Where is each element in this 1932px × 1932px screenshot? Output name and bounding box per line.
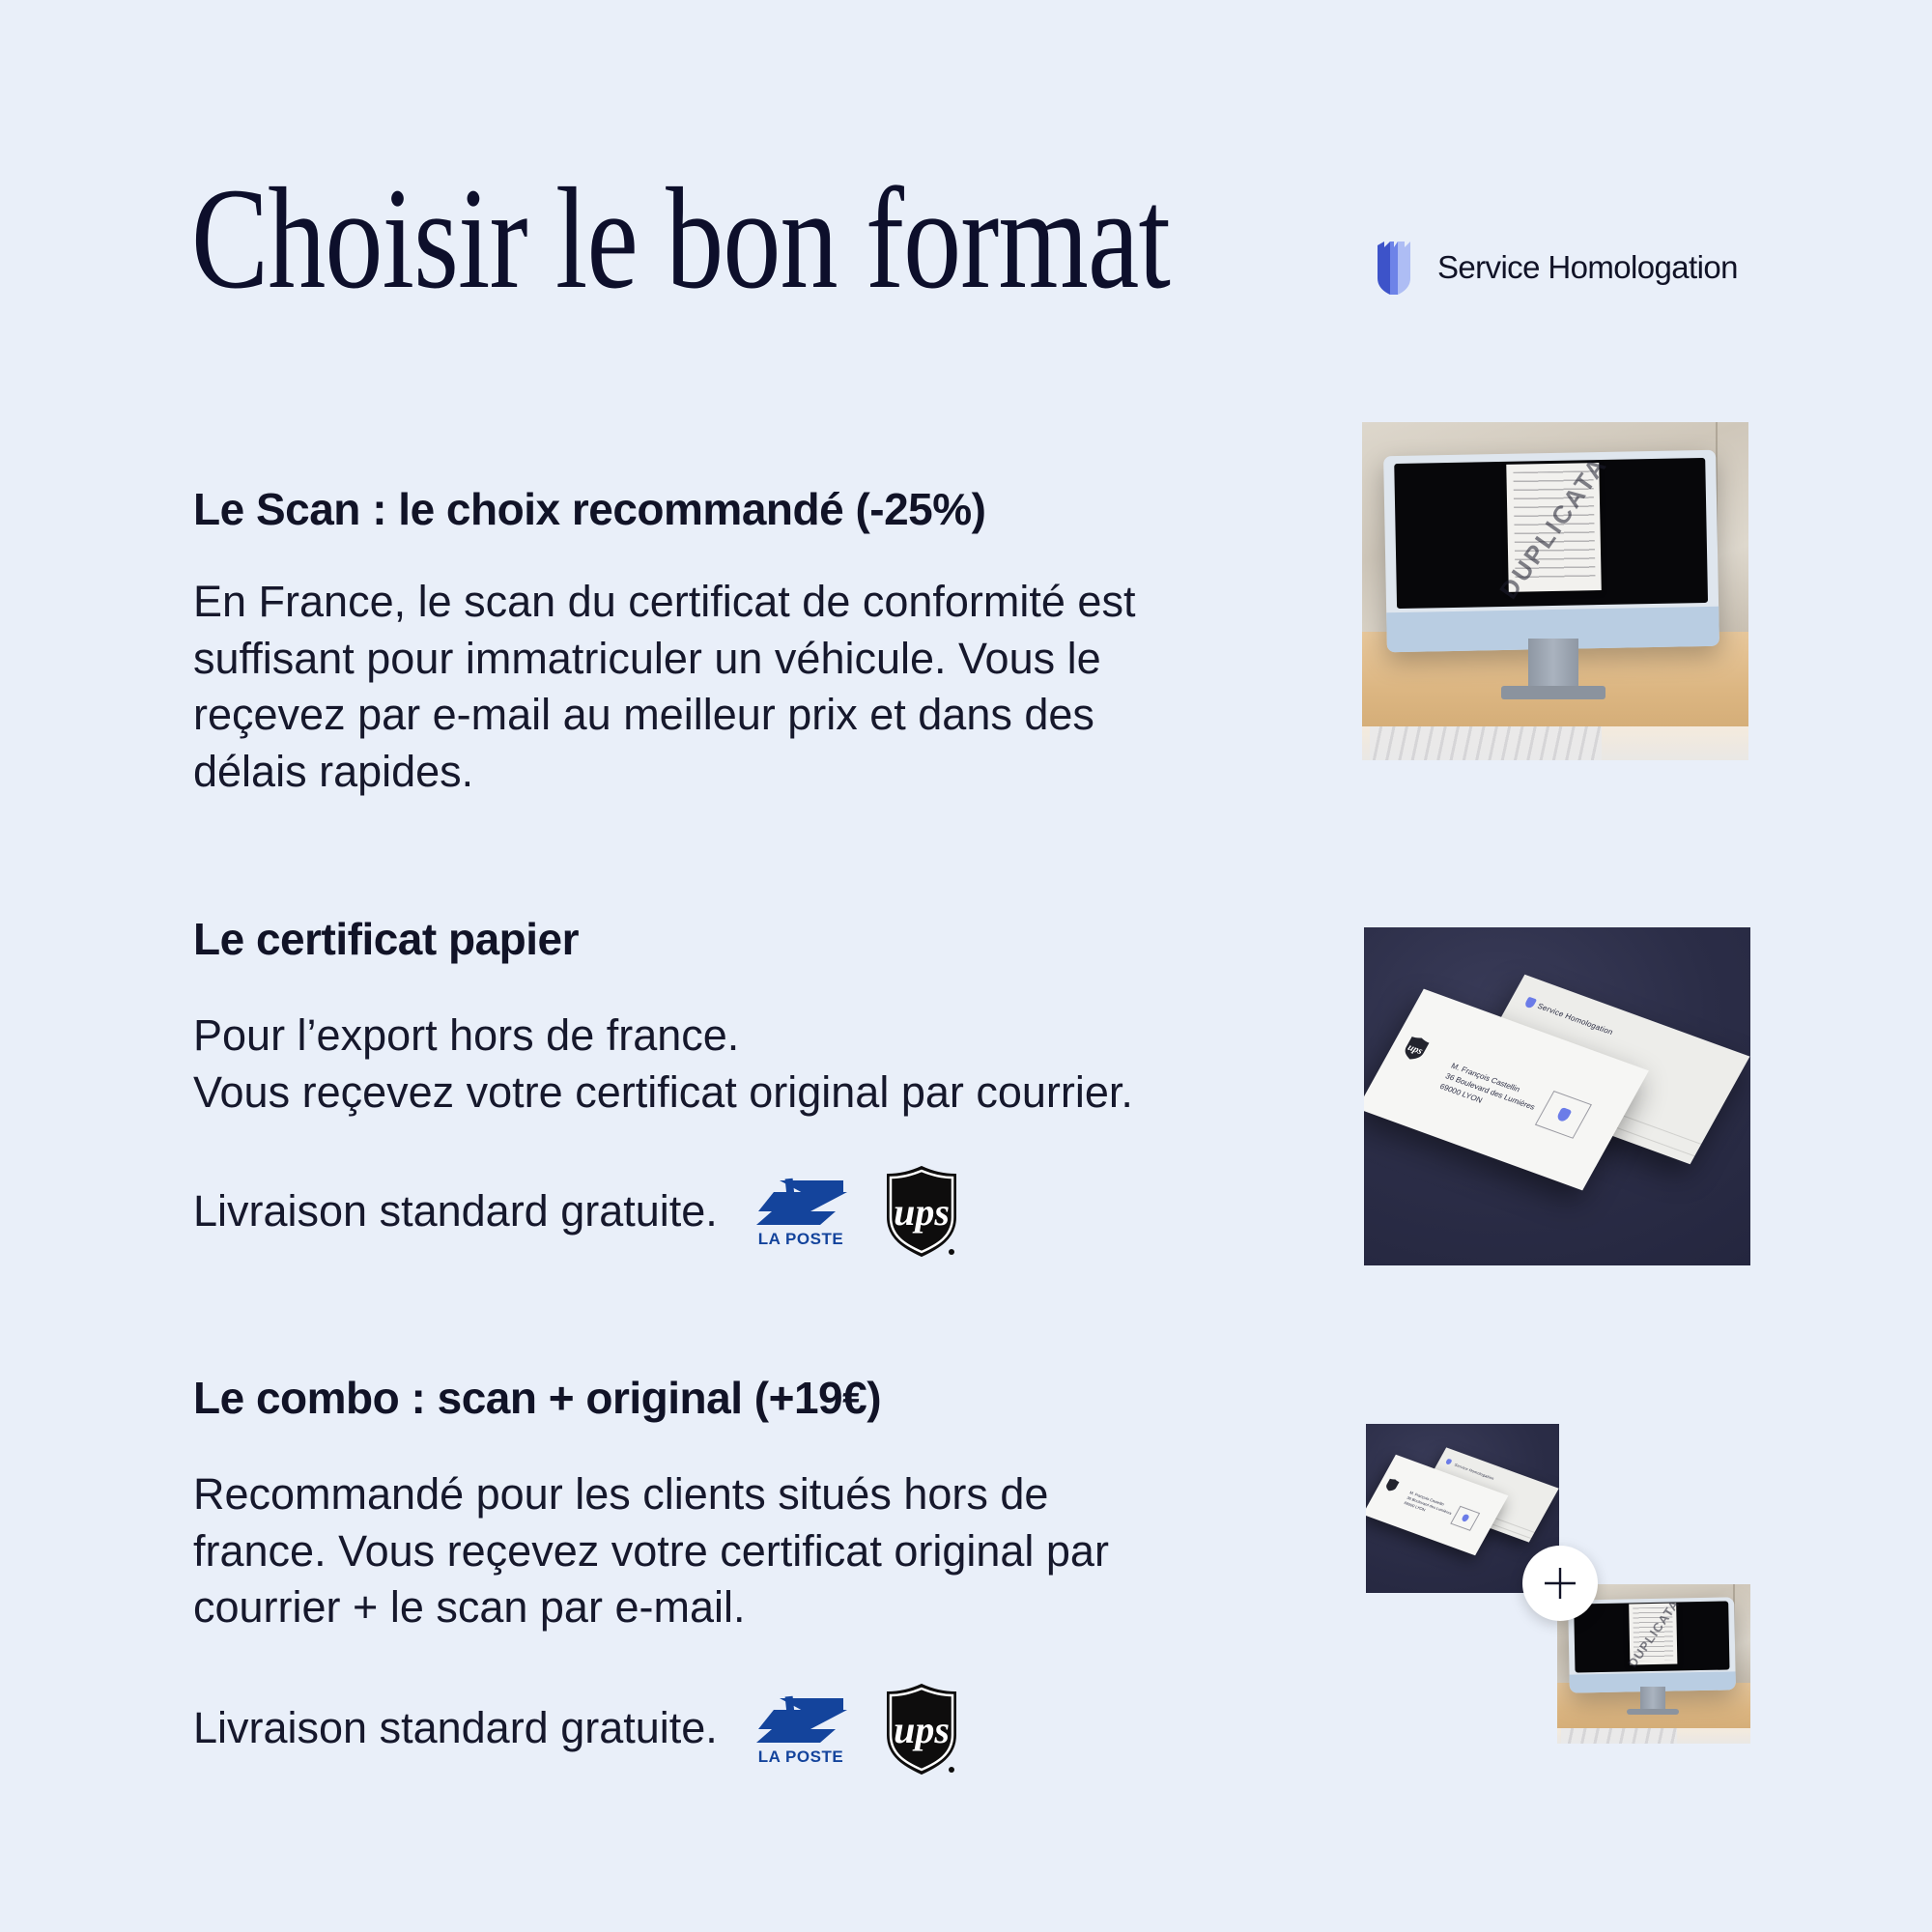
envelope-address: M. François Castellin 36 Boulevard des L… xyxy=(1437,1061,1536,1121)
section-heading: Le combo : scan + original (+19€) xyxy=(193,1372,1179,1424)
ups-logo: ups xyxy=(884,1165,959,1258)
la-poste-logo: LA POSTE xyxy=(751,1175,851,1248)
envelopes-photo: Service Homologation ups M. François Cas… xyxy=(1364,927,1750,1265)
shield-logo-icon xyxy=(1445,1459,1453,1465)
ups-logo: ups xyxy=(884,1683,959,1776)
carrier-logos: LA POSTE ups xyxy=(751,1683,959,1776)
plus-icon xyxy=(1522,1546,1598,1621)
section-papier: Le certificat papier Pour l’export hors … xyxy=(193,913,1198,1258)
section-body: Recommandé pour les clients situés hors … xyxy=(193,1466,1179,1636)
svg-text:ups: ups xyxy=(894,1190,950,1234)
shield-logo-icon xyxy=(1376,240,1420,296)
carrier-logos: LA POSTE ups xyxy=(751,1165,959,1258)
shield-logo-icon xyxy=(1523,997,1537,1009)
imac-duplicata-photo: DUPLICATA xyxy=(1362,422,1748,760)
shipping-label: Livraison standard gratuite. xyxy=(193,1183,718,1240)
la-poste-logo: LA POSTE xyxy=(751,1692,851,1766)
shipping-row: Livraison standard gratuite. LA POSTE xyxy=(193,1683,1179,1776)
section-body: En France, le scan du certificat de conf… xyxy=(193,574,1198,800)
envelope-address: M. François Castellin 36 Boulevard des L… xyxy=(1403,1491,1452,1520)
poster-root: Choisir le bon format Service Homologati… xyxy=(0,0,1932,1932)
brand-lockup: Service Homologation xyxy=(1376,240,1738,296)
section-heading: Le certificat papier xyxy=(193,913,1198,965)
shipping-label: Livraison standard gratuite. xyxy=(193,1700,718,1757)
combo-photo: Service Homologation M. François Castell… xyxy=(1356,1410,1772,1797)
section-scan: Le Scan : le choix recommandé (-25%) En … xyxy=(193,483,1198,800)
section-body: Pour l’export hors de france. Vous reçev… xyxy=(193,1008,1198,1121)
svg-text:LA POSTE: LA POSTE xyxy=(758,1230,843,1248)
section-heading: Le Scan : le choix recommandé (-25%) xyxy=(193,483,1198,535)
svg-text:LA POSTE: LA POSTE xyxy=(758,1747,843,1766)
brand-name: Service Homologation xyxy=(1437,249,1738,286)
svg-text:ups: ups xyxy=(894,1708,950,1751)
envelope-stamp xyxy=(1535,1091,1592,1139)
section-combo: Le combo : scan + original (+19€) Recomm… xyxy=(193,1372,1179,1776)
shipping-row: Livraison standard gratuite. LA POSTE xyxy=(193,1165,1198,1258)
page-title: Choisir le bon format xyxy=(191,166,1170,311)
